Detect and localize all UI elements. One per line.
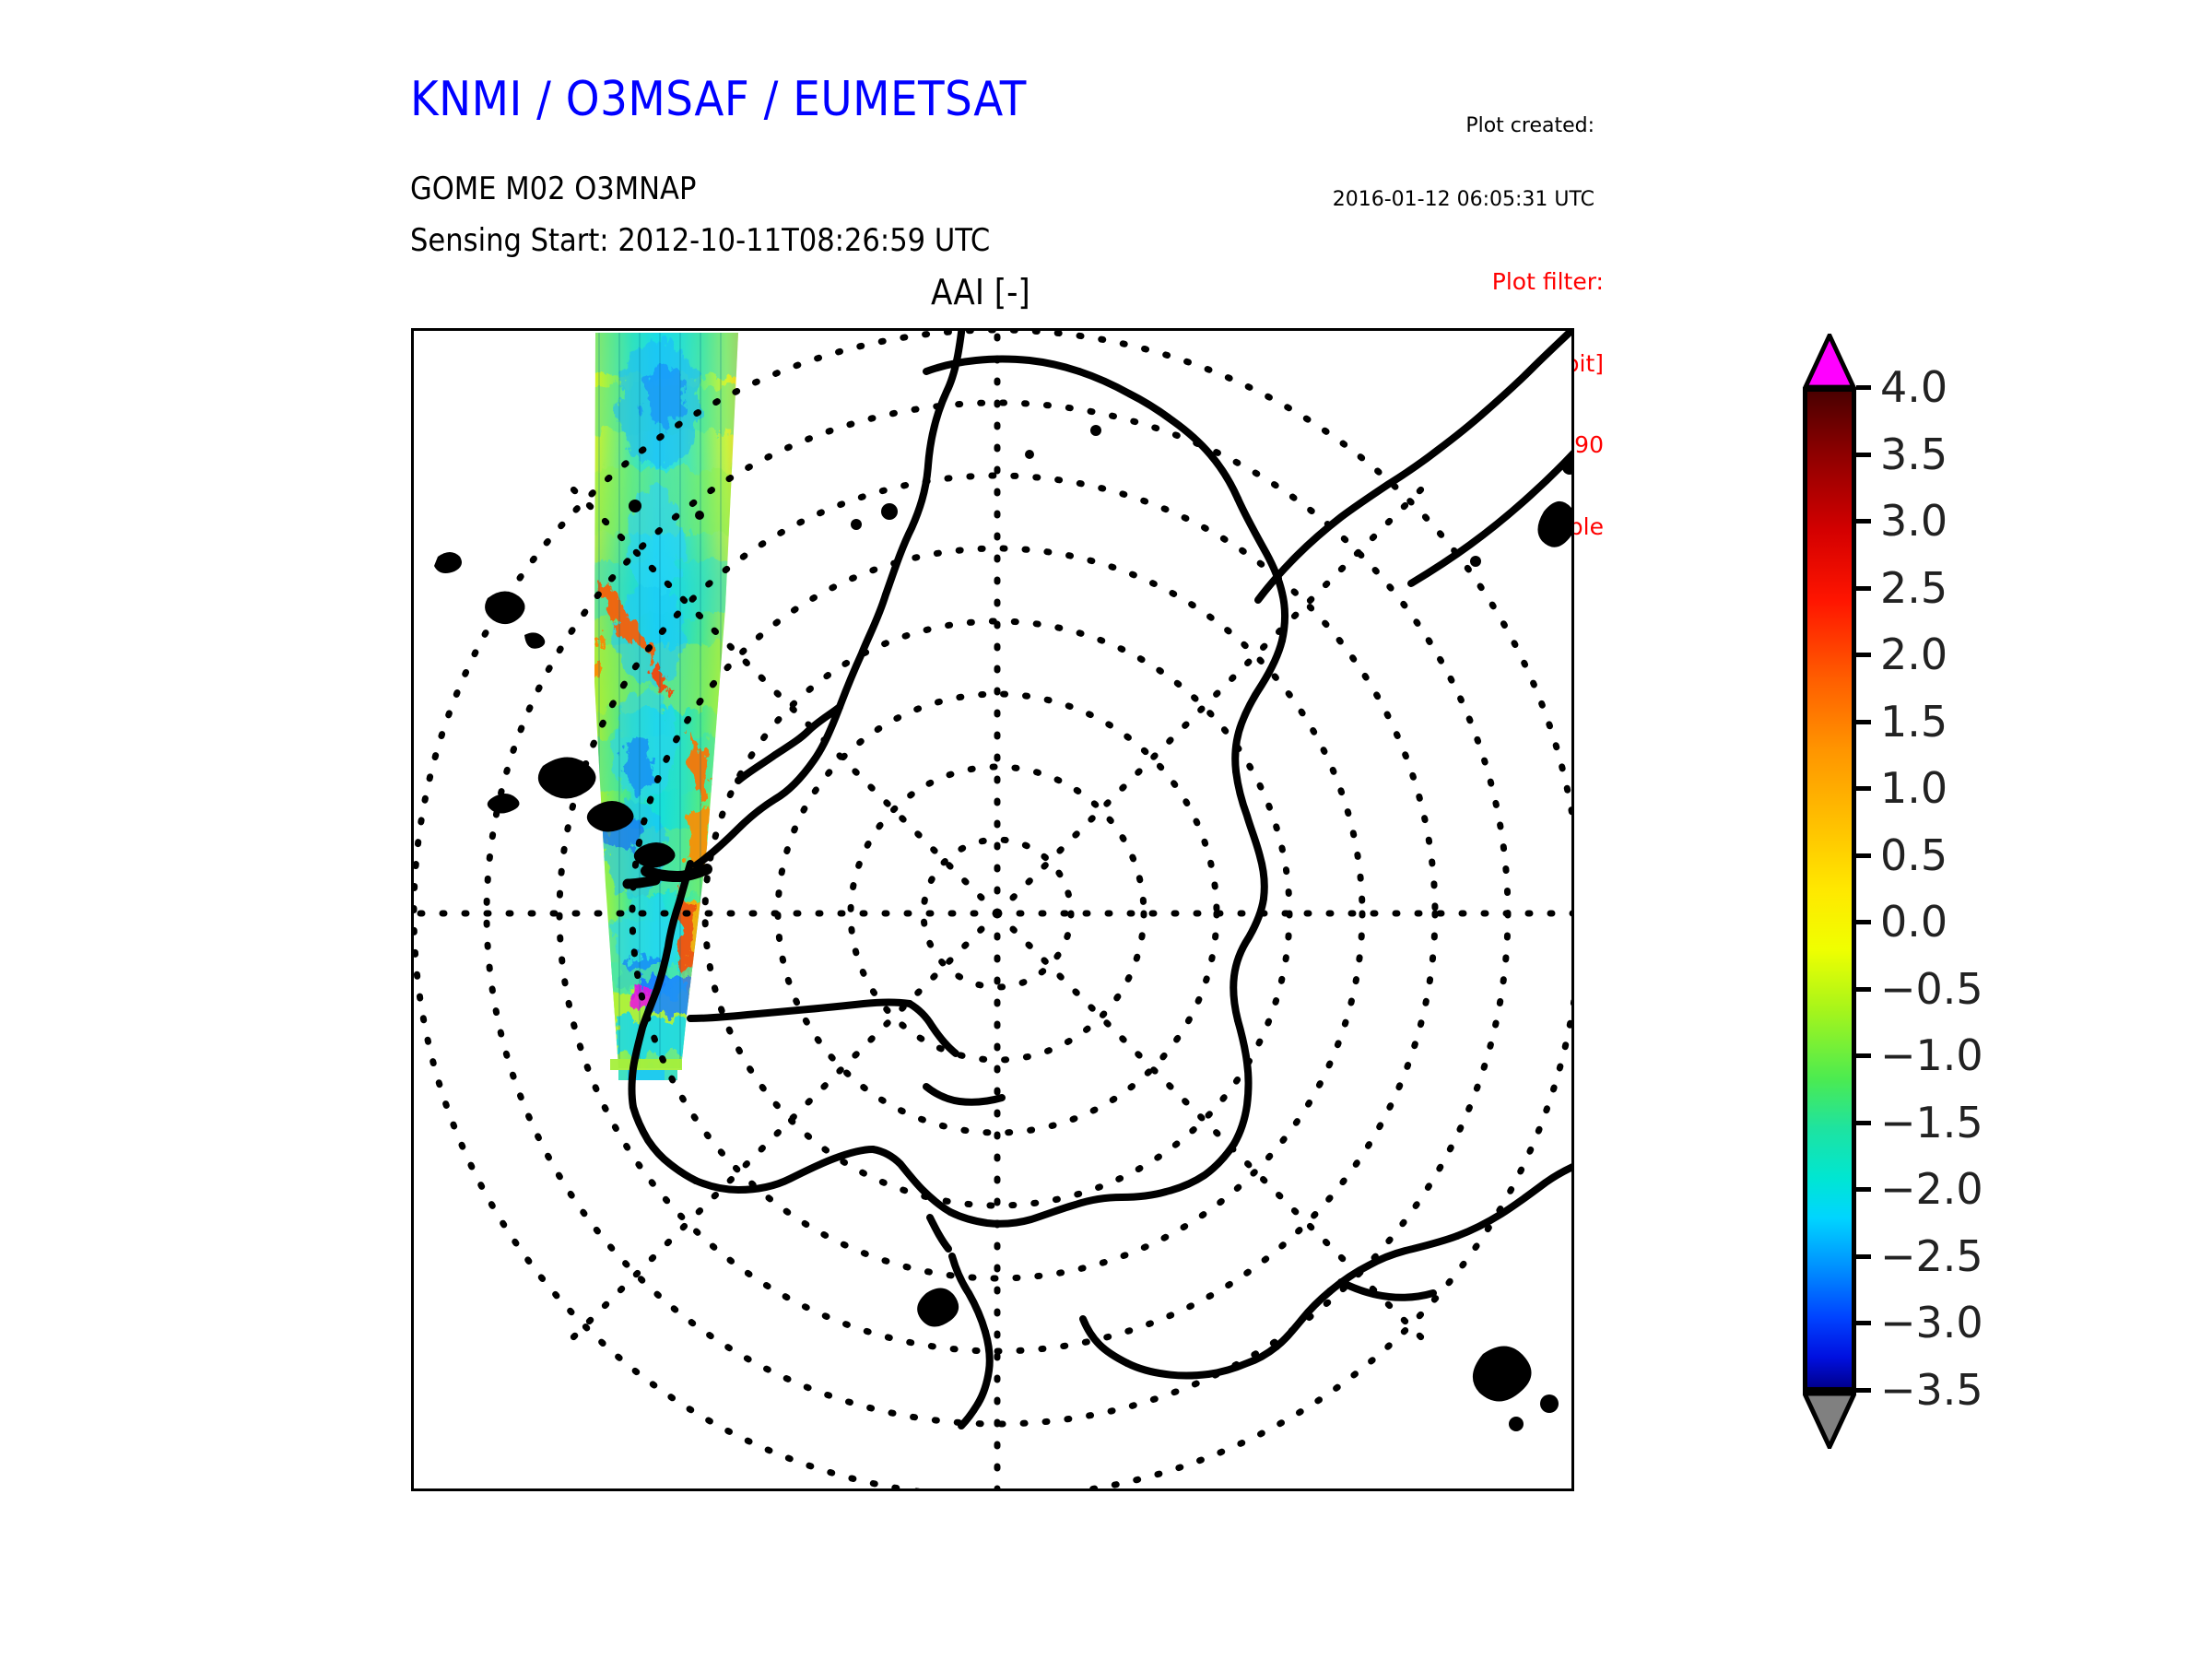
colorbar-tick-10: [1856, 1053, 1871, 1058]
meridians: [414, 331, 1574, 1491]
triangle-up-icon: [1803, 334, 1856, 389]
plot-filter-line-0: Plot filter:: [1318, 268, 1604, 296]
triangle-down-icon: [1803, 1392, 1856, 1449]
sensing-start-label: Sensing Start: 2012-10-11T08:26:59 UTC: [410, 222, 990, 259]
colorbar-tick-7: [1856, 853, 1871, 858]
figure-canvas: KNMI / O3MSAF / EUMETSAT Plot created: 2…: [0, 0, 2212, 1659]
page-title: AAI [-]: [931, 272, 1030, 312]
colorbar[interactable]: 4.0 3.5 3.0 2.5 2.0 1.5 1.0 0.5 0.0 −0.5…: [1795, 334, 2183, 1486]
colorbar-tick-15: [1856, 1388, 1871, 1393]
colorbar-label-5: 1.5: [1880, 697, 1947, 747]
map-plot-area[interactable]: [411, 328, 1574, 1491]
colorbar-tick-8: [1856, 920, 1871, 924]
plot-created-label: Plot created:: [1318, 114, 1594, 139]
colorbar-label-7: 0.5: [1880, 830, 1947, 880]
colorbar-label-10: −1.0: [1880, 1030, 1983, 1080]
colorbar-label-11: −1.5: [1880, 1098, 1983, 1147]
aai-swath: [580, 331, 755, 1080]
colorbar-label-6: 1.0: [1880, 763, 1947, 813]
colorbar-label-9: −0.5: [1880, 964, 1983, 1014]
colorbar-tick-14: [1856, 1321, 1871, 1325]
colorbar-label-15: −3.5: [1880, 1365, 1983, 1415]
colorbar-tick-1: [1856, 453, 1871, 457]
colorbar-gradient: [1803, 387, 1856, 1392]
colorbar-tick-6: [1856, 786, 1871, 791]
colorbar-label-14: −3.0: [1880, 1298, 1983, 1347]
colorbar-tick-4: [1856, 653, 1871, 657]
colorbar-label-13: −2.5: [1880, 1231, 1983, 1281]
colorbar-label-2: 3.0: [1880, 496, 1947, 546]
colorbar-tick-13: [1856, 1254, 1871, 1259]
plot-created-value: 2016-01-12 06:05:31 UTC: [1318, 188, 1594, 213]
colorbar-label-12: −2.0: [1880, 1164, 1983, 1214]
map-canvas: [414, 331, 1574, 1491]
colorbar-label-1: 3.5: [1880, 429, 1947, 479]
colorbar-tick-2: [1856, 519, 1871, 524]
colorbar-tick-3: [1856, 586, 1871, 591]
colorbar-tick-0: [1856, 385, 1871, 390]
colorbar-label-0: 4.0: [1880, 362, 1947, 412]
colorbar-label-4: 2.0: [1880, 629, 1947, 679]
instrument-label: GOME M02 O3MNAP: [410, 171, 696, 207]
colorbar-label-3: 2.5: [1880, 563, 1947, 613]
colorbar-label-8: 0.0: [1880, 897, 1947, 947]
organisation-title: KNMI / O3MSAF / EUMETSAT: [410, 72, 1027, 127]
colorbar-tick-12: [1856, 1187, 1871, 1192]
colorbar-tick-11: [1856, 1121, 1871, 1125]
colorbar-tick-9: [1856, 987, 1871, 992]
colorbar-tick-5: [1856, 720, 1871, 724]
